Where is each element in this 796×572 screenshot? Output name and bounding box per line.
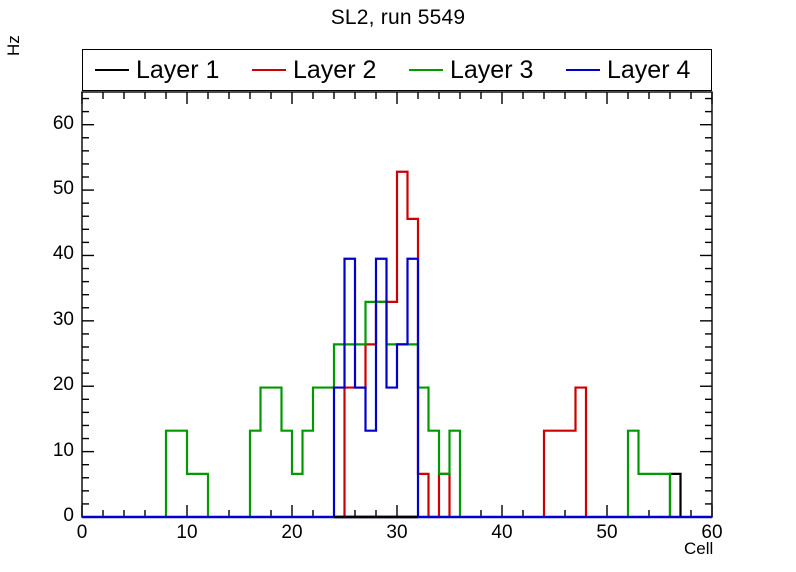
chart-canvas: SL2, run 5549 Hz Cell 010203040506001020… — [0, 0, 796, 572]
y-tick-label: 60 — [34, 113, 74, 135]
x-tick-label: 20 — [272, 522, 312, 544]
axes — [82, 92, 712, 517]
legend-entry-2[interactable]: Layer 2 — [240, 58, 397, 83]
legend-label: Layer 3 — [450, 58, 533, 83]
x-tick-label: 30 — [377, 522, 417, 544]
y-tick-label: 30 — [34, 309, 74, 331]
x-tick-label: 60 — [692, 522, 732, 544]
y-tick-label: 40 — [34, 243, 74, 265]
chart-legend: Layer 1Layer 2Layer 3Layer 4 — [82, 49, 712, 91]
legend-label: Layer 4 — [607, 58, 690, 83]
legend-label: Layer 1 — [136, 58, 219, 83]
y-tick-label: 50 — [34, 178, 74, 200]
x-tick-label: 50 — [587, 522, 627, 544]
legend-swatch-line-icon — [566, 69, 600, 71]
x-tick-label: 10 — [167, 522, 207, 544]
y-tick-label: 20 — [34, 374, 74, 396]
legend-entry-4[interactable]: Layer 4 — [554, 58, 711, 83]
histogram-series-2 — [345, 172, 587, 517]
legend-swatch-line-icon — [409, 69, 443, 71]
legend-swatch-line-icon — [252, 69, 286, 71]
legend-entry-1[interactable]: Layer 1 — [83, 58, 240, 83]
legend-swatch-line-icon — [95, 69, 129, 71]
x-tick-label: 0 — [62, 522, 102, 544]
plot-frame — [82, 92, 712, 517]
x-tick-label: 40 — [482, 522, 522, 544]
y-tick-label: 10 — [34, 440, 74, 462]
legend-entry-3[interactable]: Layer 3 — [397, 58, 554, 83]
legend-label: Layer 2 — [293, 58, 376, 83]
histogram-series — [82, 172, 712, 517]
